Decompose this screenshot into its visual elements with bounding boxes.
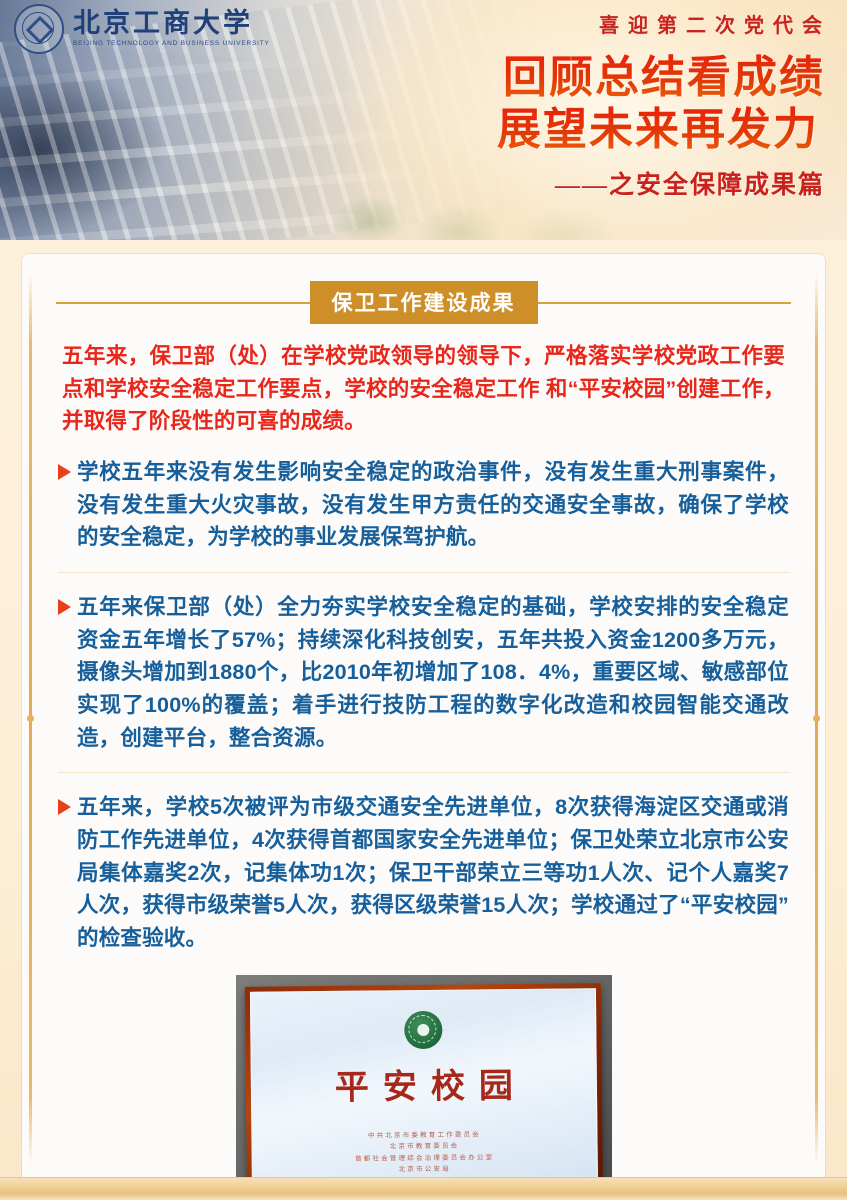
poster-title-line-2: 展望未来再发力 (497, 104, 825, 156)
rail-dot-left-icon (27, 715, 34, 722)
list-item: 五年来，学校5次被评为市级交通安全先进单位，8次获得海淀区交通或消防工作先进单位… (58, 772, 789, 972)
header-banner: 北京工商大学 BEIJING TECHNOLOGY AND BUSINESS U… (0, 0, 847, 240)
bullet-list: 学校五年来没有发生影响安全稳定的政治事件，没有发生重大刑事案件，没有发生重大火灾… (58, 438, 789, 973)
content-card: 保卫工作建设成果 五年来，保卫部（处）在学校党政领导的领导下，严格落实学校党政工… (22, 254, 825, 1184)
university-name-cn: 北京工商大学 (73, 10, 270, 37)
plaque-signature-line: 首都社会管理综合治理委员会办公室 (355, 1152, 494, 1165)
body-area: 保卫工作建设成果 五年来，保卫部（处）在学校党政领导的领导下，严格落实学校党政工… (0, 240, 847, 1200)
plaque-signatures: 中共北京市委教育工作委员会 北京市教育委员会 首都社会管理综合治理委员会办公室 … (354, 1129, 494, 1176)
rail-dot-right-icon (813, 715, 820, 722)
section-header: 保卫工作建设成果 (56, 282, 791, 322)
triangle-right-icon (58, 799, 71, 815)
list-item: 五年来保卫部（处）全力夯实学校安全稳定的基础，学校安排的安全稳定资金五年增长了5… (58, 572, 789, 772)
header-title-block: 回顾总结看成绩 展望未来再发力 ——之安全保障成果篇 (497, 52, 825, 201)
poster-title-line-1: 回顾总结看成绩 (497, 52, 825, 104)
footer-bar (0, 1177, 847, 1200)
right-decorative-rail (815, 272, 818, 1166)
university-name-en: BEIJING TECHNOLOGY AND BUSINESS UNIVERSI… (73, 41, 270, 48)
triangle-right-icon (58, 464, 71, 480)
list-item-text: 学校五年来没有发生影响安全稳定的政治事件，没有发生重大刑事案件，没有发生重大火灾… (77, 456, 789, 554)
section-title: 保卫工作建设成果 (310, 281, 538, 324)
university-logo: 北京工商大学 BEIJING TECHNOLOGY AND BUSINESS U… (14, 4, 270, 54)
plaque-signature-line: 中共北京市委教育工作委员会 (354, 1129, 493, 1142)
left-decorative-rail (29, 272, 32, 1166)
plaque-signature-line: 北京市公安局 (355, 1163, 494, 1176)
poster-root: 北京工商大学 BEIJING TECHNOLOGY AND BUSINESS U… (0, 0, 847, 1200)
school-seal-icon (404, 1011, 442, 1049)
intro-paragraph: 五年来，保卫部（处）在学校党政领导的领导下，严格落实学校党政工作要点和学校安全稳… (62, 340, 785, 438)
list-item: 学校五年来没有发生影响安全稳定的政治事件，没有发生重大刑事案件，没有发生重大火灾… (58, 438, 789, 572)
plaque-title: 平安校园 (320, 1058, 527, 1109)
plaque-face: 平安校园 中共北京市委教育工作委员会 北京市教育委员会 首都社会管理综合治理委员… (249, 988, 597, 1184)
plaque-photo: 平安校园 中共北京市委教育工作委员会 北京市教育委员会 首都社会管理综合治理委员… (236, 975, 612, 1184)
university-logo-text: 北京工商大学 BEIJING TECHNOLOGY AND BUSINESS U… (73, 10, 270, 48)
poster-subtitle: ——之安全保障成果篇 (497, 165, 825, 201)
university-seal-icon (14, 4, 64, 54)
header-kicker: 喜迎第二次党代会 (599, 9, 831, 38)
plaque-frame: 平安校园 中共北京市委教育工作委员会 北京市教育委员会 首都社会管理综合治理委员… (244, 983, 602, 1184)
list-item-text: 五年来保卫部（处）全力夯实学校安全稳定的基础，学校安排的安全稳定资金五年增长了5… (77, 591, 789, 754)
list-item-text: 五年来，学校5次被评为市级交通安全先进单位，8次获得海淀区交通或消防工作先进单位… (77, 791, 789, 954)
triangle-right-icon (58, 599, 71, 615)
